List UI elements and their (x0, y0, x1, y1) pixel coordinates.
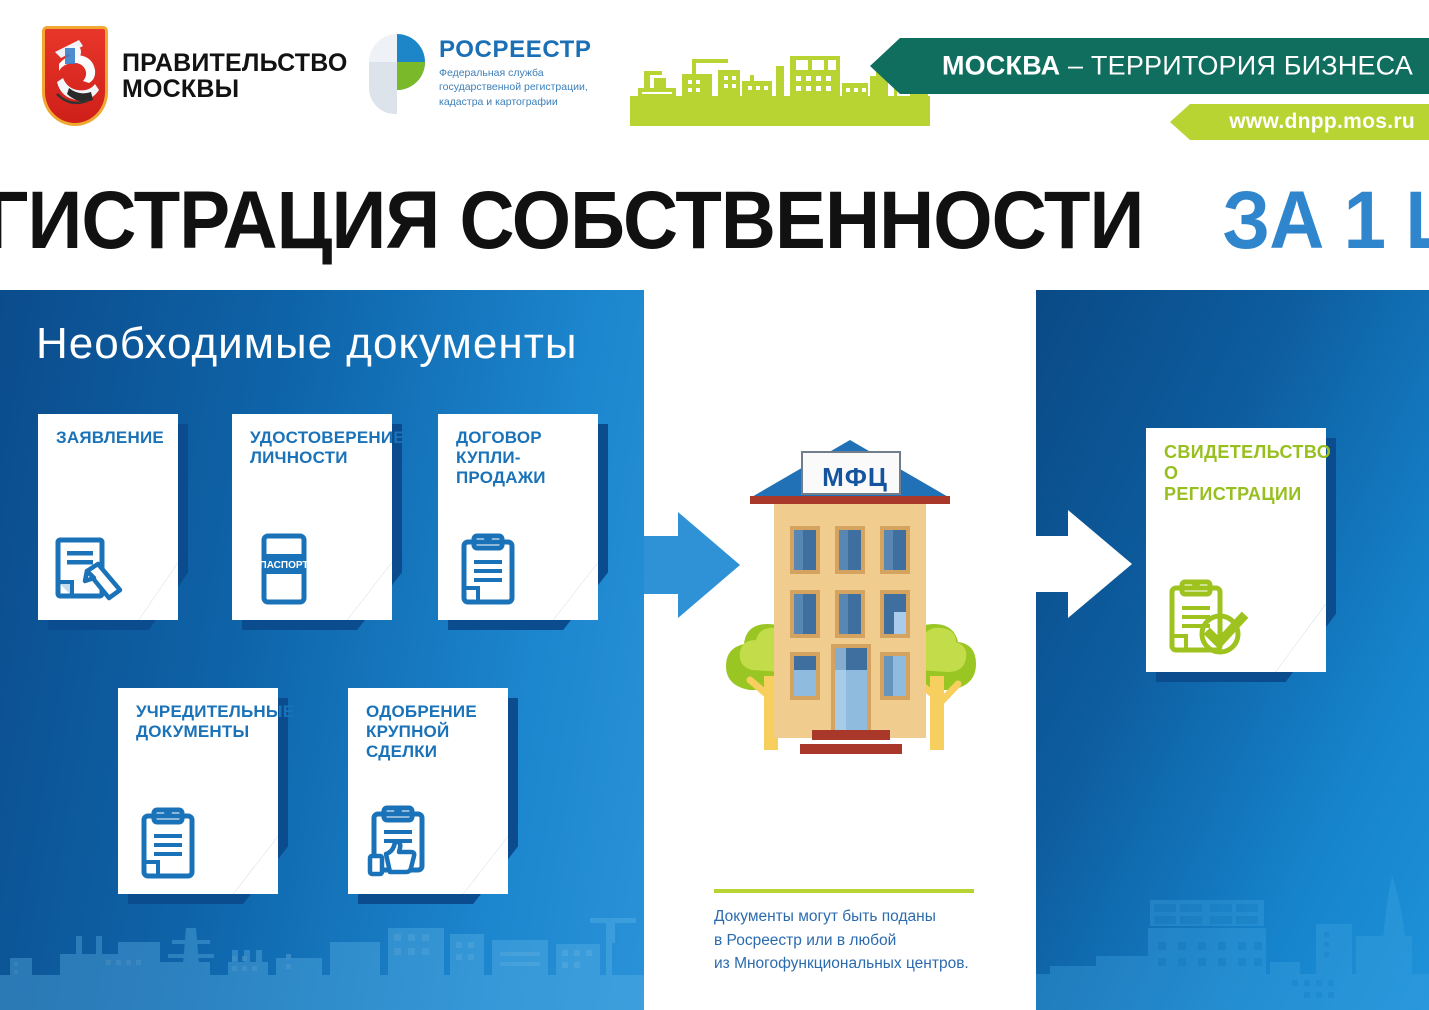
required-documents-panel: Необходимые документы ЗАЯВЛЕНИЕ (0, 290, 644, 1010)
business-banner: МОСКВА – ТЕРРИТОРИЯ БИЗНЕСА (900, 38, 1429, 94)
document-card-registration-certificate[interactable]: СВИДЕТЕЛЬСТВО О РЕГИСТРАЦИИ (1146, 428, 1326, 672)
building-step-upper (812, 730, 890, 740)
rosreestr-text-block: РОСРЕЕСТР Федеральная служба государстве… (439, 32, 592, 109)
right-panel-skyline-icon (1036, 870, 1429, 1010)
card-label: СВИДЕТЕЛЬСТВО О РЕГИСТРАЦИИ (1164, 442, 1316, 505)
windows-row-2 (790, 590, 910, 638)
arrow-right-white-icon (1036, 498, 1132, 630)
clipboard-thumbsup-icon (364, 804, 438, 880)
passport-icon: ПАСПОРТ (252, 532, 316, 606)
page-title-blue: ЗА 1 ШАГ (1222, 180, 1429, 262)
windows-row-1 (790, 526, 910, 574)
business-banner-strong: МОСКВА (942, 51, 1060, 81)
gov-logo-line1: ПРАВИТЕЛЬСТВО (122, 50, 348, 77)
rosreestr-mark-icon (366, 32, 428, 116)
card-label: ОДОБРЕНИЕ КРУПНОЙ СДЕЛКИ (366, 702, 498, 762)
building-step-lower (800, 744, 902, 754)
rosreestr-logo: РОСРЕЕСТР Федеральная служба государстве… (366, 32, 592, 116)
center-note-rule (714, 889, 974, 893)
card-label: ДОГОВОР КУПЛИ-ПРОДАЖИ (456, 428, 588, 488)
business-banner-rest: – ТЕРРИТОРИЯ БИЗНЕСА (1060, 51, 1413, 81)
gov-logo-text: ПРАВИТЕЛЬСТВО МОСКВЫ (122, 50, 348, 103)
card-label: УДОСТОВЕРЕНИЕ ЛИЧНОСТИ (250, 428, 382, 468)
rosreestr-title: РОСРЕЕСТР (439, 38, 592, 62)
rosreestr-subtitle-line1: Федеральная служба (439, 66, 592, 80)
rosreestr-subtitle: Федеральная служба государственной регис… (439, 66, 592, 109)
document-card-sale-contract[interactable]: ДОГОВОР КУПЛИ-ПРОДАЖИ (438, 414, 598, 620)
center-note-text: Документы могут быть поданы в Росреестр … (714, 905, 1014, 976)
document-card-founding-documents[interactable]: УЧРЕДИТЕЛЬНЫЕ ДОКУМЕНТЫ (118, 688, 278, 894)
moscow-coat-of-arms-icon (42, 26, 108, 126)
rosreestr-subtitle-line3: кадастра и картографии (439, 95, 592, 109)
clipboard-icon (136, 806, 202, 880)
page-title-black: РЕГИСТРАЦИЯ СОБСТВЕННОСТИ (0, 180, 1144, 262)
clipboard-check-icon (1164, 578, 1252, 658)
document-card-identity[interactable]: УДОСТОВЕРЕНИЕ ЛИЧНОСТИ ПАСПОРТ (232, 414, 392, 620)
passport-label: ПАСПОРТ (260, 560, 309, 571)
center-note: Документы могут быть поданы в Росреестр … (714, 889, 1014, 976)
mfc-sign-text: МФЦ (795, 455, 915, 499)
website-url-banner[interactable]: www.dnpp.mos.ru (1190, 104, 1429, 140)
website-url-text[interactable]: www.dnpp.mos.ru (1229, 110, 1415, 134)
registration-certificate-panel: СВИДЕТЕЛЬСТВО О РЕГИСТРАЦИИ (1036, 290, 1429, 1010)
left-panel-skyline-icon (0, 870, 644, 1010)
moscow-government-logo: ПРАВИТЕЛЬСТВО МОСКВЫ (42, 26, 348, 126)
saint-george-rider-icon (49, 36, 101, 112)
rosreestr-subtitle-line2: государственной регистрации, (439, 80, 592, 94)
gov-logo-line2: МОСКВЫ (122, 76, 348, 103)
page-title: РЕГИСТРАЦИЯ СОБСТВЕННОСТИ ЗА 1 ШАГ (0, 168, 1429, 273)
clipboard-icon (456, 532, 522, 606)
left-panel-heading: Необходимые документы (36, 322, 616, 366)
document-pen-icon (54, 534, 128, 606)
header-bar: ПРАВИТЕЛЬСТВО МОСКВЫ РОСРЕЕСТР Федеральн… (0, 0, 1429, 150)
document-card-major-deal-approval[interactable]: ОДОБРЕНИЕ КРУПНОЙ СДЕЛКИ (348, 688, 508, 894)
business-banner-text: МОСКВА – ТЕРРИТОРИЯ БИЗНЕСА (942, 51, 1413, 82)
infographic-poster: ПРАВИТЕЛЬСТВО МОСКВЫ РОСРЕЕСТР Федеральн… (0, 0, 1429, 1010)
document-card-application[interactable]: ЗАЯВЛЕНИЕ (38, 414, 178, 620)
card-label: УЧРЕДИТЕЛЬНЫЕ ДОКУМЕНТЫ (136, 702, 268, 742)
card-label: ЗАЯВЛЕНИЕ (56, 428, 168, 448)
